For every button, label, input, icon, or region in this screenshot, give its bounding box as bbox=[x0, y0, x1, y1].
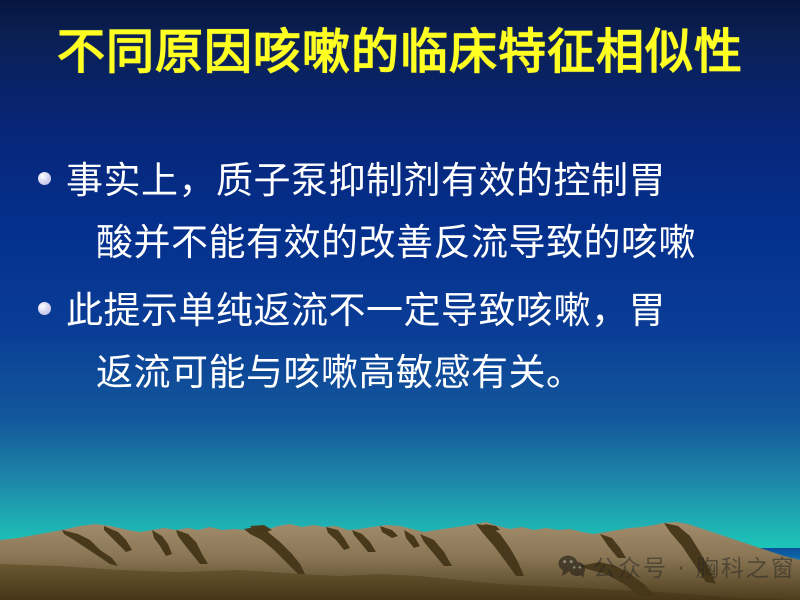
watermark-text: 公众号 · 胸科之窗 bbox=[593, 549, 796, 583]
list-item: 事实上，质子泵抑制剂有效的控制胃 酸并不能有效的改善反流导致的咳嗽 bbox=[34, 150, 774, 274]
slide-body: 事实上，质子泵抑制剂有效的控制胃 酸并不能有效的改善反流导致的咳嗽 此提示单纯返… bbox=[34, 150, 774, 410]
bullet-marker-icon bbox=[38, 302, 51, 315]
bullet-line-2: 酸并不能有效的改善反流导致的咳嗽 bbox=[66, 212, 774, 274]
slide-title: 不同原因咳嗽的临床特征相似性 bbox=[0, 28, 800, 76]
bullet-line-2: 返流可能与咳嗽高敏感有关。 bbox=[66, 342, 774, 404]
list-item: 此提示单纯返流不一定导致咳嗽，胃 返流可能与咳嗽高敏感有关。 bbox=[34, 280, 774, 404]
bullet-marker-icon bbox=[38, 172, 51, 185]
bullet-text: 事实上，质子泵抑制剂有效的控制胃 酸并不能有效的改善反流导致的咳嗽 bbox=[66, 150, 774, 274]
presentation-slide: 不同原因咳嗽的临床特征相似性 事实上，质子泵抑制剂有效的控制胃 酸并不能有效的改… bbox=[0, 0, 800, 600]
bullet-line-1: 此提示单纯返流不一定导致咳嗽，胃 bbox=[66, 289, 666, 332]
watermark: 公众号 · 胸科之窗 bbox=[558, 549, 796, 583]
bullet-line-1: 事实上，质子泵抑制剂有效的控制胃 bbox=[66, 159, 666, 202]
bullet-text: 此提示单纯返流不一定导致咳嗽，胃 返流可能与咳嗽高敏感有关。 bbox=[66, 280, 774, 404]
wechat-icon bbox=[558, 554, 586, 578]
